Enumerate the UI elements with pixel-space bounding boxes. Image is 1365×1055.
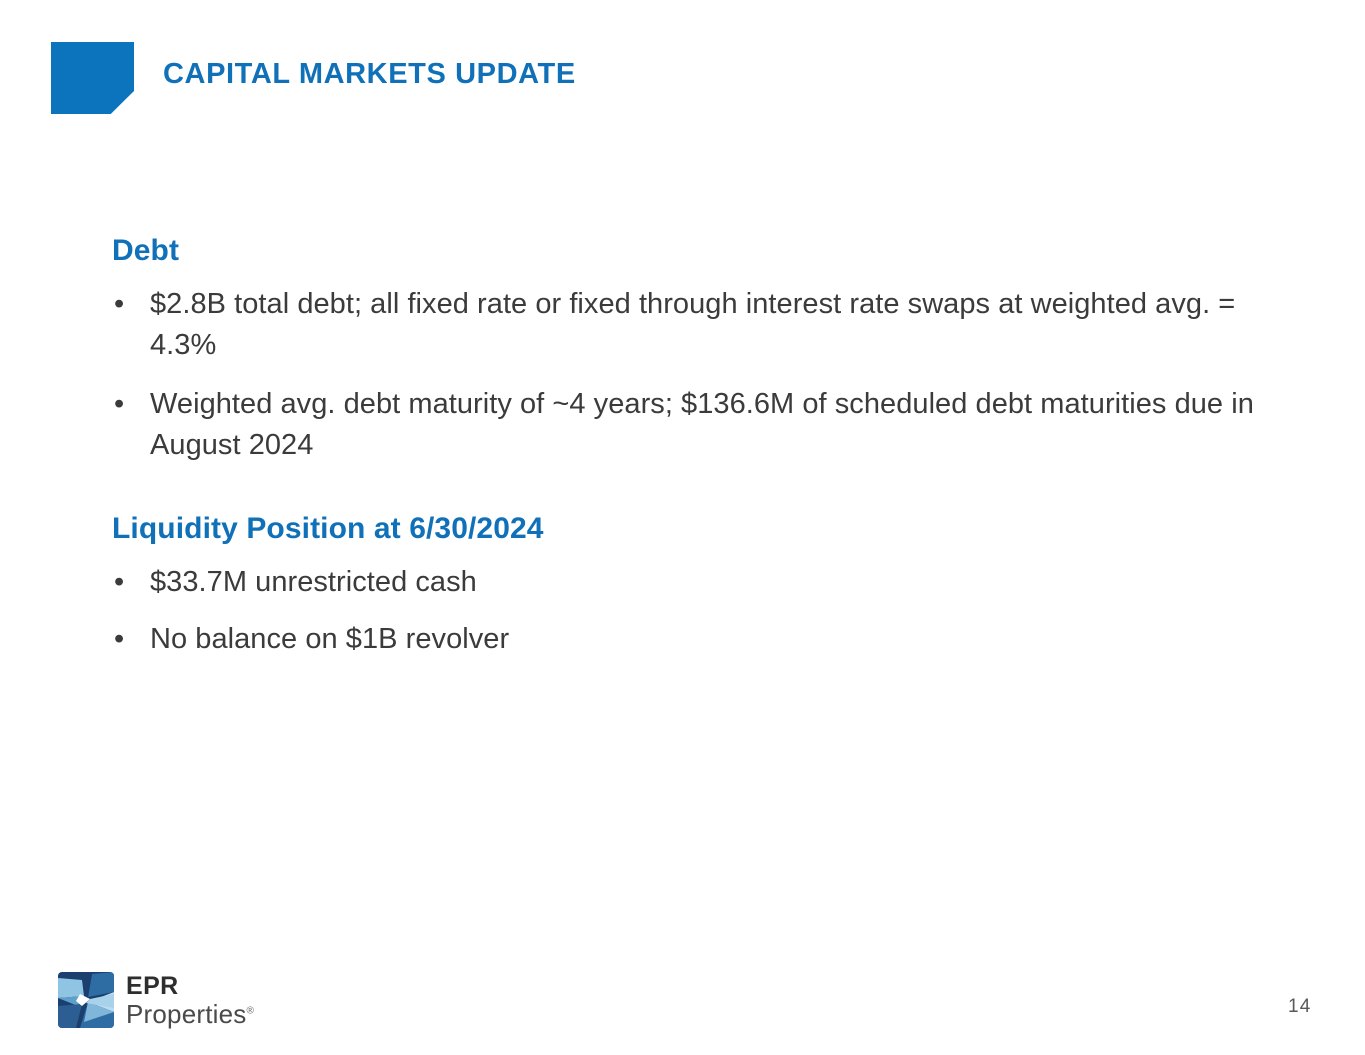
- page-title: CAPITAL MARKETS UPDATE: [163, 57, 576, 92]
- title-accent-shape-icon: [51, 42, 134, 114]
- bullet-dot-icon: •: [114, 384, 124, 425]
- logo-wordmark: EPR Properties®: [126, 974, 254, 1027]
- list-item: • Weighted avg. debt maturity of ~4 year…: [112, 384, 1272, 466]
- list-item: • $33.7M unrestricted cash: [112, 562, 1272, 603]
- list-item: • No balance on $1B revolver: [112, 619, 1272, 660]
- slide: CAPITAL MARKETS UPDATE Debt • $2.8B tota…: [0, 0, 1365, 1055]
- list-item-text: $33.7M unrestricted cash: [150, 566, 477, 598]
- section-heading-debt: Debt: [112, 232, 1272, 270]
- logo-name-properties: Properties®: [126, 1001, 254, 1027]
- list-item-text: Weighted avg. debt maturity of ~4 years;…: [150, 388, 1254, 461]
- bullet-dot-icon: •: [114, 619, 124, 660]
- list-item-text: $2.8B total debt; all fixed rate or fixe…: [150, 288, 1235, 361]
- bullet-dot-icon: •: [114, 284, 124, 325]
- bullet-dot-icon: •: [114, 562, 124, 603]
- logo-name-epr: EPR: [126, 974, 254, 999]
- section-liquidity-position: Liquidity Position at 6/30/2024 • $33.7M…: [112, 510, 1272, 660]
- logo-properties-text: Properties: [126, 999, 247, 1029]
- registered-trademark-icon: ®: [247, 1005, 255, 1016]
- slide-header: CAPITAL MARKETS UPDATE: [0, 0, 1365, 140]
- epr-logo-mark-icon: [58, 972, 114, 1028]
- section-heading-liquidity-position: Liquidity Position at 6/30/2024: [112, 510, 1272, 548]
- bullet-list-debt: • $2.8B total debt; all fixed rate or fi…: [112, 284, 1272, 467]
- list-item: • $2.8B total debt; all fixed rate or fi…: [112, 284, 1272, 366]
- slide-body: Debt • $2.8B total debt; all fixed rate …: [112, 232, 1272, 676]
- section-debt: Debt • $2.8B total debt; all fixed rate …: [112, 232, 1272, 466]
- bullet-list-liquidity: • $33.7M unrestricted cash • No balance …: [112, 562, 1272, 660]
- list-item-text: No balance on $1B revolver: [150, 623, 509, 655]
- page-number: 14: [1288, 996, 1312, 1018]
- company-logo: EPR Properties®: [58, 972, 254, 1028]
